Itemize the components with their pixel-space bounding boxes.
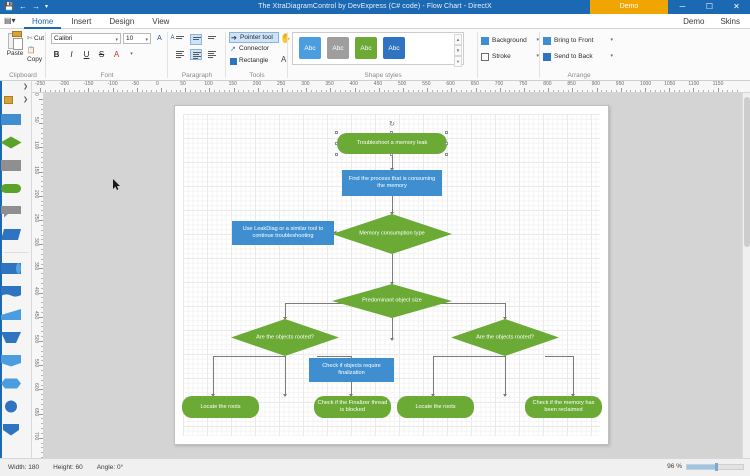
italic-button[interactable]: I <box>66 49 77 60</box>
background-label: Background <box>492 37 527 44</box>
scrollbar-thumb[interactable] <box>744 97 750 247</box>
stroke-label: Stroke <box>492 53 511 60</box>
swatch-label: Abc <box>332 45 343 52</box>
bring-to-front-label: Bring to Front <box>554 37 593 44</box>
ruler-tick-label: 450 <box>33 311 39 319</box>
chevron-down-icon: ▾ <box>145 35 148 45</box>
node-label: Predominant object size <box>332 298 452 305</box>
pointer-tool-label: Pointer tool <box>240 34 273 41</box>
copy-label: Copy <box>27 56 42 63</box>
close-button[interactable]: ✕ <box>723 0 750 14</box>
selection-handle[interactable] <box>335 153 338 156</box>
tape-shape[interactable] <box>0 285 22 298</box>
node-memory-consumption-type[interactable]: Memory consumption type <box>332 214 452 254</box>
node-locate-the-roots-right[interactable]: Locate the roots <box>397 396 474 418</box>
file-menu-icon[interactable]: ▤▾ <box>4 16 20 27</box>
ruler-tick-label: 450 <box>374 81 382 87</box>
node-label: Are the objects rooted? <box>451 334 559 341</box>
send-to-back-button[interactable]: Send to Back ▾ <box>543 51 613 62</box>
pen-outline-icon <box>481 53 489 61</box>
ruler-tick-label: 300 <box>301 81 309 87</box>
node-label: Use LeakDiag or a similar tool to contin… <box>235 226 331 240</box>
ribbon-group-clipboard: Paste ✄Cut 📋Copy Clipboard <box>0 29 46 81</box>
pentagon-down-shape[interactable] <box>0 423 22 436</box>
status-height: Height: 60 <box>53 464 83 471</box>
circle-shape[interactable] <box>0 400 22 413</box>
connector-line <box>213 356 285 357</box>
shape-style-swatch[interactable]: Abc <box>299 37 321 59</box>
diagram-canvas[interactable]: Troubleshoot a memory leak ↻ Find the pr… <box>44 93 742 458</box>
align-bottom-button[interactable] <box>206 34 218 45</box>
ruler-tick-label: 250 <box>33 214 39 222</box>
align-left-button[interactable] <box>174 49 186 60</box>
paragraph-group-label: Paragraph <box>168 71 226 81</box>
offpage-shape[interactable] <box>0 354 22 367</box>
node-check-objects-require-finalization[interactable]: Check if objects require finalization <box>309 358 394 382</box>
underline-button[interactable]: U <box>81 49 92 60</box>
text-tool-icon[interactable]: A <box>281 55 286 64</box>
rectangle-tool-label: Rectangle <box>239 57 268 64</box>
ruler-tick-label: 900 <box>592 81 600 87</box>
swatch-label: Abc <box>388 45 399 52</box>
swatch-label: Abc <box>304 45 315 52</box>
ruler-tick-label: 500 <box>33 335 39 343</box>
node-label: Check if the Finalizer thread is blocked <box>317 400 388 414</box>
shape-style-swatch[interactable]: Abc <box>327 37 349 59</box>
connector-line <box>317 356 351 357</box>
horizontal-ruler[interactable]: -250-200-150-100-50050100150200250300350… <box>32 81 750 93</box>
paste-label: Paste <box>4 50 26 57</box>
vertical-align-row <box>174 34 218 45</box>
ruler-tick-label: -250 <box>35 81 45 87</box>
ruler-tick-label: 100 <box>204 81 212 87</box>
vertical-ruler[interactable]: 0501001502002503003504004505005506006507… <box>32 93 44 458</box>
connector-arrow <box>283 394 287 397</box>
ribbon-group-tools: ➔ Pointer tool ↗ Connector Rectangle ✋ A… <box>226 29 288 81</box>
chevron-right-icon[interactable]: ❯ <box>23 83 28 90</box>
connector-tool-button[interactable]: ↗ Connector <box>229 44 279 54</box>
font-size-value: 10 <box>126 35 133 42</box>
palette-divider <box>4 252 28 253</box>
connector-icon: ↗ <box>230 46 237 53</box>
status-width: Width: 180 <box>8 464 39 471</box>
font-name-combo[interactable]: Calibri ▾ <box>51 33 121 44</box>
ruler-tick-label: 0 <box>33 93 39 96</box>
ruler-tick-label: 1100 <box>688 81 699 87</box>
node-find-process[interactable]: Find the process that is consuming the m… <box>342 170 442 196</box>
ruler-tick-label: 700 <box>33 432 39 440</box>
shape-styles-group-label: Shape styles <box>288 71 478 81</box>
ruler-tick-label: 850 <box>567 81 575 87</box>
rectangle-tool-button[interactable]: Rectangle <box>229 56 279 66</box>
status-angle: Angle: 0° <box>97 464 123 471</box>
status-bar: Width: 180 Height: 60 Angle: 0° 96 % <box>0 458 750 476</box>
node-use-leakdiag[interactable]: Use LeakDiag or a similar tool to contin… <box>232 221 334 245</box>
selection-handle[interactable] <box>445 131 448 134</box>
ruler-tick-label: 550 <box>33 359 39 367</box>
connector-arrow <box>390 338 394 341</box>
ribbon-group-shape-styles: Abc Abc Abc Abc ▲ ▼ ▾ <box>288 29 478 81</box>
node-label: Are the objects rooted? <box>231 334 339 341</box>
palette-shape-list <box>0 109 32 442</box>
tab-design[interactable]: Design <box>101 14 142 29</box>
ribbon-tabs: Home Insert Design View <box>24 14 177 29</box>
ruler-tick-label: 150 <box>33 166 39 174</box>
ruler-tick-label: -50 <box>132 81 139 87</box>
ruler-tick-label: 50 <box>180 81 186 87</box>
zoom-level-label: 96 % <box>667 463 682 470</box>
chevron-down-icon: ▾ <box>115 35 118 45</box>
fill-bucket-icon <box>481 37 489 45</box>
connector-line <box>285 356 286 396</box>
tab-skins[interactable]: Skins <box>718 14 742 29</box>
ribbon-group-background-stroke: Background ▾ Stroke ▾ <box>478 29 540 81</box>
node-label: Locate the roots <box>415 404 455 411</box>
shape-style-gallery[interactable]: Abc Abc Abc Abc ▲ ▼ ▾ <box>292 32 464 65</box>
node-are-objects-rooted-right[interactable]: Are the objects rooted? <box>451 319 559 356</box>
ruler-tick-label: 600 <box>446 81 454 87</box>
demo-badge: Demo <box>590 0 668 14</box>
ribbon-group-paragraph: Paragraph <box>168 29 226 81</box>
minimize-button[interactable]: ─ <box>669 0 696 14</box>
ruler-tick-label: 700 <box>495 81 503 87</box>
maximize-button[interactable]: ☐ <box>696 0 723 14</box>
inverted-trapezoid-shape[interactable] <box>0 331 22 344</box>
tab-home[interactable]: Home <box>24 14 61 29</box>
ruler-tick-label: 100 <box>33 141 39 149</box>
ruler-tick-label: 400 <box>33 287 39 295</box>
ribbon-group-font: Calibri ▾ 10 ▾ A A B I U S A ▾ Font <box>46 29 168 81</box>
bold-button[interactable]: B <box>51 49 62 60</box>
status-measurements: Width: 180 Height: 60 Angle: 0° <box>8 464 123 471</box>
selection-handle[interactable] <box>390 131 393 134</box>
paste-icon <box>8 33 22 49</box>
pointer-icon: ➔ <box>231 35 238 42</box>
folder-icon <box>4 96 13 104</box>
rectangle-icon <box>230 58 237 65</box>
ribbon-group-arrange: Bring to Front ▾ Send to Back ▾ Arrange <box>540 29 618 81</box>
ruler-tick-label: 600 <box>33 383 39 391</box>
ruler-tick-label: 300 <box>33 238 39 246</box>
ribbon-bar: Paste ✄Cut 📋Copy Clipboard Calibri ▾ 10 … <box>0 29 750 81</box>
font-color-button[interactable]: A <box>111 49 122 60</box>
ribbon-right-tabs: Demo Skins <box>681 14 742 29</box>
node-label: Find the process that is consuming the m… <box>345 176 439 190</box>
gallery-scroll-buttons: ▲ ▼ ▾ <box>454 34 462 65</box>
background-button[interactable]: Background ▾ <box>481 35 539 46</box>
ruler-tick-label: 500 <box>398 81 406 87</box>
ribbon-tab-strip: ▤▾ Home Insert Design View Demo Skins <box>0 14 750 29</box>
node-locate-the-roots-left[interactable]: Locate the roots <box>182 396 259 418</box>
zoom-slider-fill <box>687 465 716 469</box>
shape-style-swatch[interactable]: Abc <box>383 37 405 59</box>
gray-rectangle-shape[interactable] <box>0 159 22 172</box>
connector-tool-label: Connector <box>239 45 269 52</box>
stroke-button[interactable]: Stroke ▾ <box>481 51 539 62</box>
zoom-controls: 96 % <box>667 463 744 470</box>
cylinder-shape[interactable] <box>0 262 22 275</box>
ruler-tick-label: 750 <box>519 81 527 87</box>
node-troubleshoot-memory-leak[interactable]: Troubleshoot a memory leak <box>337 133 447 154</box>
align-right-button[interactable] <box>206 49 218 60</box>
ruler-tick-label: 200 <box>253 81 261 87</box>
ruler-tick-label: 1000 <box>640 81 651 87</box>
selection-handle[interactable] <box>445 142 448 145</box>
ruler-tick-label: 550 <box>422 81 430 87</box>
ruler-tick-label: 650 <box>471 81 479 87</box>
connector-line <box>392 318 393 340</box>
pointer-tool-button[interactable]: ➔ Pointer tool <box>229 32 279 43</box>
connector-line <box>433 356 505 357</box>
ruler-tick-label: 950 <box>616 81 624 87</box>
horizontal-align-row <box>174 49 218 60</box>
swatch-label: Abc <box>360 45 371 52</box>
ruler-tick-label: 350 <box>33 262 39 270</box>
node-label: Memory consumption type <box>332 231 452 238</box>
align-middle-button[interactable] <box>190 34 202 45</box>
node-check-memory-reclaimed[interactable]: Check if the memory has been reclaimed <box>525 396 602 418</box>
font-size-combo[interactable]: 10 ▾ <box>123 33 151 44</box>
connector-line <box>433 356 434 396</box>
tab-view[interactable]: View <box>144 14 177 29</box>
connector-line <box>573 356 574 396</box>
node-label: Locate the roots <box>200 404 240 411</box>
diamond-shape[interactable] <box>0 136 22 149</box>
selection-handle[interactable] <box>390 153 393 156</box>
selection-handle[interactable] <box>335 142 338 145</box>
cut-label: Cut <box>34 35 44 42</box>
node-predominant-object-size[interactable]: Predominant object size <box>332 284 452 318</box>
ruler-tick-label: 650 <box>33 408 39 416</box>
grow-font-button[interactable]: A <box>154 33 165 44</box>
ruler-tick-label: -100 <box>108 81 118 87</box>
zoom-slider[interactable] <box>686 464 744 470</box>
ruler-tick-label: 50 <box>33 117 39 123</box>
align-center-button[interactable] <box>190 49 202 60</box>
ruler-tick-label: 400 <box>350 81 358 87</box>
align-top-button[interactable] <box>174 34 186 45</box>
node-check-finalizer-thread-blocked[interactable]: Check if the Finalizer thread is blocked <box>314 396 391 418</box>
connector-line <box>545 356 573 357</box>
ruler-tick-label: 250 <box>277 81 285 87</box>
shape-style-swatch[interactable]: Abc <box>355 37 377 59</box>
selection-handle[interactable] <box>445 153 448 156</box>
copy-button[interactable]: 📋Copy <box>27 46 46 64</box>
ruler-tick-label: 1150 <box>713 81 724 87</box>
ruler-tick-label: -150 <box>83 81 93 87</box>
rectangle-shape[interactable] <box>0 113 22 126</box>
trapezoid-shape[interactable] <box>0 308 22 321</box>
selection-handle[interactable] <box>335 131 338 134</box>
strikethrough-button[interactable]: S <box>96 49 107 60</box>
ruler-tick-label: 150 <box>229 81 237 87</box>
palette-group-header[interactable]: ❯ <box>3 94 30 107</box>
copy-icon: 📋 <box>27 46 34 55</box>
diagram-page[interactable]: Troubleshoot a memory leak ↻ Find the pr… <box>174 105 609 445</box>
scissors-icon: ✄ <box>27 34 34 43</box>
parallelogram-shape[interactable] <box>0 228 22 241</box>
zoom-slider-handle[interactable] <box>715 463 718 471</box>
bring-to-front-button[interactable]: Bring to Front ▾ <box>543 35 613 46</box>
mouse-cursor-icon <box>113 179 120 190</box>
chevron-down-icon[interactable]: ▾ <box>610 51 613 62</box>
arrange-group-label: Arrange <box>540 71 618 81</box>
send-to-back-label: Send to Back <box>554 53 593 60</box>
rounded-rectangle-shape[interactable] <box>0 182 22 195</box>
connector-line <box>505 356 506 396</box>
ruler-tick-label: 1050 <box>664 81 675 87</box>
rotate-handle-icon[interactable]: ↻ <box>389 120 395 128</box>
gallery-scroll-up-icon[interactable]: ▲ <box>454 34 462 45</box>
font-group-label: Font <box>46 71 168 81</box>
palette-header[interactable]: ❯ <box>0 81 32 93</box>
node-are-objects-rooted-left[interactable]: Are the objects rooted? <box>231 319 339 356</box>
chevron-down-icon[interactable]: ▾ <box>126 49 137 60</box>
tab-demo[interactable]: Demo <box>681 14 706 29</box>
connector-arrow <box>503 394 507 397</box>
ruler-tick-label: 0 <box>156 81 159 87</box>
chevron-down-icon[interactable]: ▾ <box>610 35 613 46</box>
ruler-tick-label: 200 <box>33 190 39 198</box>
canvas-vertical-scrollbar[interactable] <box>742 93 750 458</box>
node-label: Check if the memory has been reclaimed <box>528 400 599 414</box>
ruler-tick-label: 800 <box>543 81 551 87</box>
node-label: Check if objects require finalization <box>312 363 391 377</box>
tools-group-label: Tools <box>226 71 288 81</box>
font-format-row: B I U S A ▾ <box>51 48 137 60</box>
title-bar: 💾 ← → ▾ The XtraDiagramControl by DevExp… <box>0 0 750 14</box>
hexagon-shape[interactable] <box>0 377 22 390</box>
window-controls: ─ ☐ ✕ <box>669 0 750 14</box>
shape-style-swatches: Abc Abc Abc Abc <box>299 37 405 59</box>
gallery-scroll-down-icon[interactable]: ▼ <box>454 45 462 56</box>
callout-shape[interactable] <box>0 205 22 218</box>
connector-line <box>392 254 393 284</box>
clipboard-group-label: Clipboard <box>0 71 46 81</box>
shape-palette: ❯ ❯ <box>0 81 32 458</box>
cut-button[interactable]: ✄Cut <box>27 34 44 43</box>
send-to-back-icon <box>543 53 551 61</box>
application-window: 💾 ← → ▾ The XtraDiagramControl by DevExp… <box>0 0 750 476</box>
ruler-tick-label: -200 <box>59 81 69 87</box>
paste-button[interactable]: Paste <box>4 32 26 65</box>
tab-insert[interactable]: Insert <box>63 14 99 29</box>
connector-line <box>213 356 214 396</box>
ruler-tick-label: 350 <box>325 81 333 87</box>
gallery-expand-icon[interactable]: ▾ <box>454 56 462 67</box>
chevron-right-icon[interactable]: ❯ <box>23 96 28 103</box>
font-name-value: Calibri <box>54 35 72 42</box>
node-label: Troubleshoot a memory leak <box>357 140 428 147</box>
bring-to-front-icon <box>543 37 551 45</box>
